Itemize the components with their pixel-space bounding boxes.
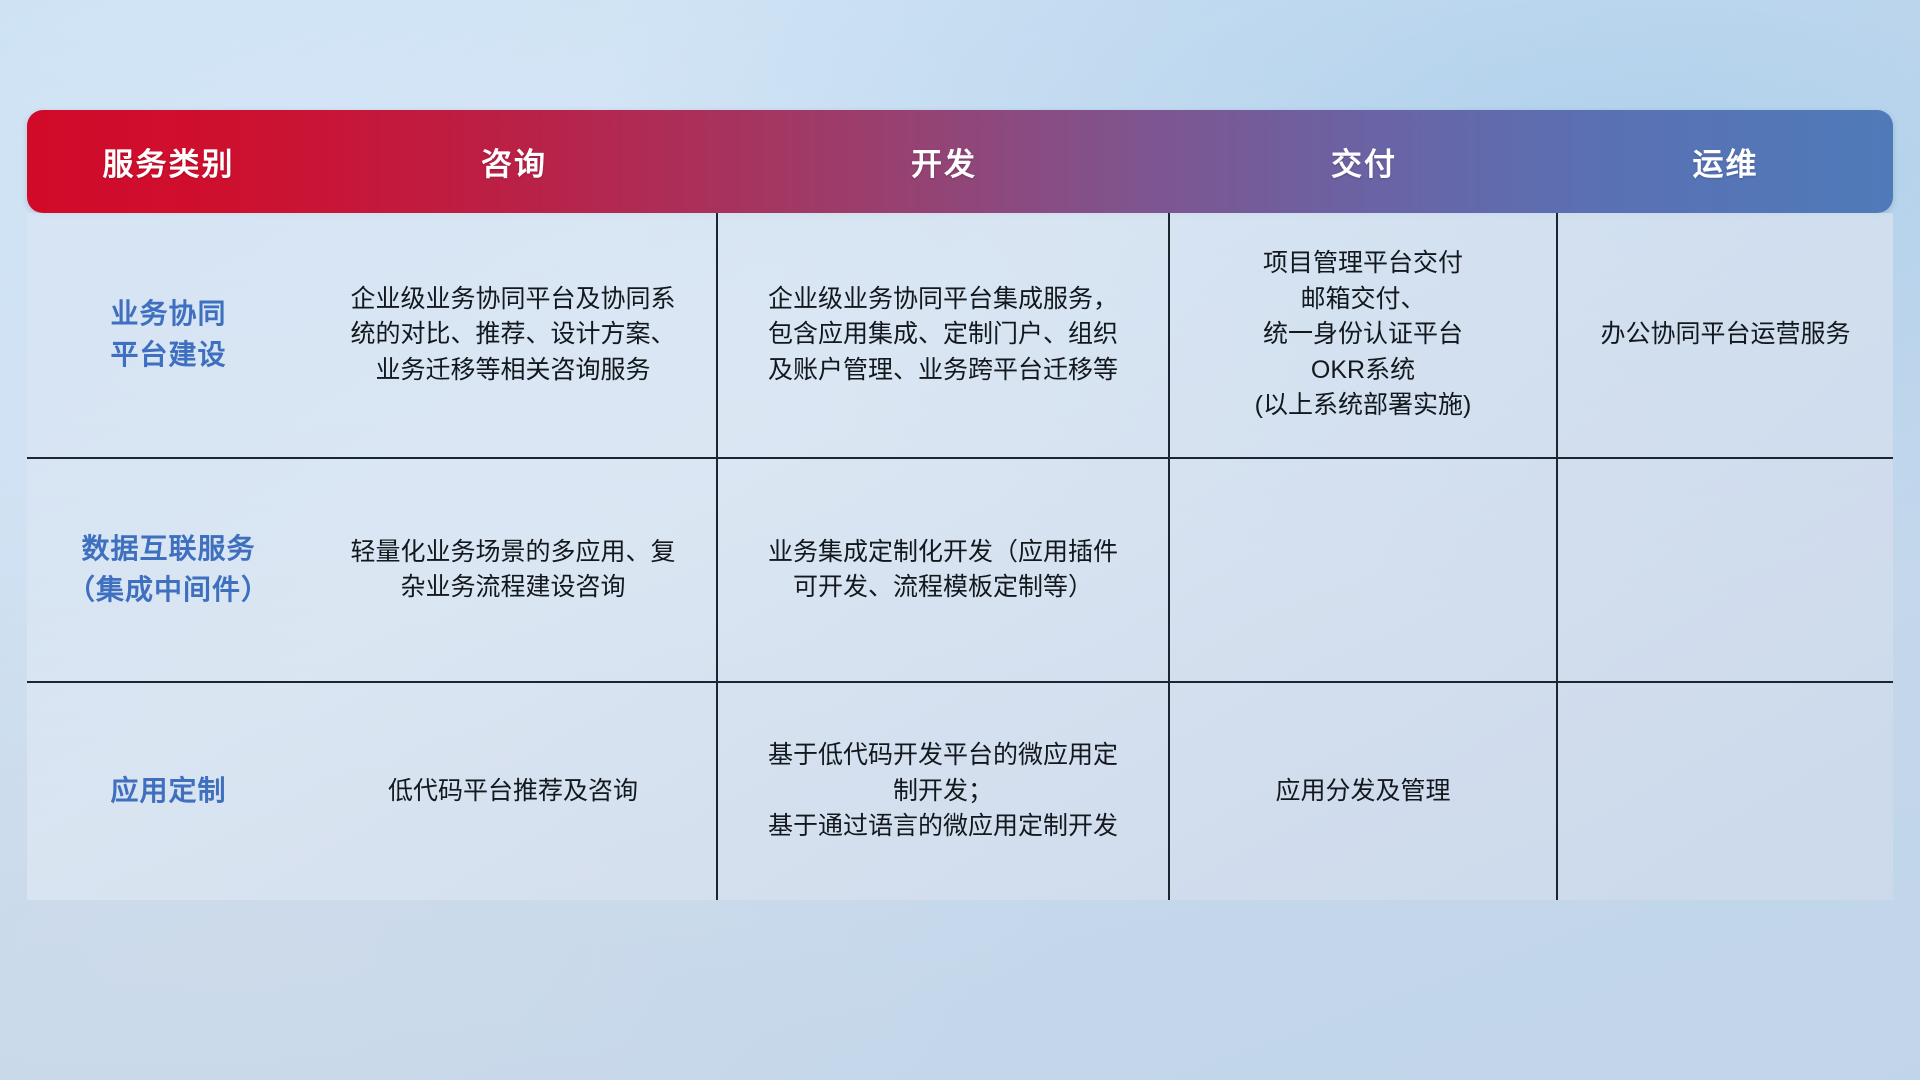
header-development: 开发 xyxy=(718,110,1170,213)
cell-delivery: 项目管理平台交付 邮箱交付、 统一身份认证平台 OKR系统 (以上系统部署实施) xyxy=(1170,213,1558,457)
header-operations: 运维 xyxy=(1558,110,1893,213)
cell-consulting: 低代码平台推荐及咨询 xyxy=(310,683,718,900)
cell-operations xyxy=(1558,683,1893,900)
header-delivery: 交付 xyxy=(1170,110,1558,213)
row-category-label: 业务协同 平台建设 xyxy=(27,213,310,457)
cell-operations: 办公协同平台运营服务 xyxy=(1558,213,1893,457)
service-matrix-table: 服务类别 咨询 开发 交付 运维 业务协同 平台建设 企业级业务协同平台及协同系… xyxy=(27,110,1893,900)
table-row: 数据互联服务 （集成中间件） 轻量化业务场景的多应用、复 杂业务流程建设咨询 业… xyxy=(27,459,1893,683)
cell-operations xyxy=(1558,459,1893,681)
cell-consulting: 企业级业务协同平台及协同系 统的对比、推荐、设计方案、 业务迁移等相关咨询服务 xyxy=(310,213,718,457)
header-consulting: 咨询 xyxy=(310,110,718,213)
row-category-label: 应用定制 xyxy=(27,683,310,900)
table-row: 应用定制 低代码平台推荐及咨询 基于低代码开发平台的微应用定 制开发； 基于通过… xyxy=(27,683,1893,900)
table-row: 业务协同 平台建设 企业级业务协同平台及协同系 统的对比、推荐、设计方案、 业务… xyxy=(27,213,1893,459)
page-root: 服务类别 咨询 开发 交付 运维 业务协同 平台建设 企业级业务协同平台及协同系… xyxy=(0,0,1920,1080)
cell-consulting: 轻量化业务场景的多应用、复 杂业务流程建设咨询 xyxy=(310,459,718,681)
cell-development: 业务集成定制化开发（应用插件 可开发、流程模板定制等） xyxy=(718,459,1170,681)
table-body: 业务协同 平台建设 企业级业务协同平台及协同系 统的对比、推荐、设计方案、 业务… xyxy=(27,213,1893,900)
cell-delivery xyxy=(1170,459,1558,681)
table-header-row: 服务类别 咨询 开发 交付 运维 xyxy=(27,110,1893,213)
cell-development: 企业级业务协同平台集成服务， 包含应用集成、定制门户、组织 及账户管理、业务跨平… xyxy=(718,213,1170,457)
header-service-category: 服务类别 xyxy=(27,110,310,213)
cell-delivery: 应用分发及管理 xyxy=(1170,683,1558,900)
row-category-label: 数据互联服务 （集成中间件） xyxy=(27,459,310,681)
cell-development: 基于低代码开发平台的微应用定 制开发； 基于通过语言的微应用定制开发 xyxy=(718,683,1170,900)
